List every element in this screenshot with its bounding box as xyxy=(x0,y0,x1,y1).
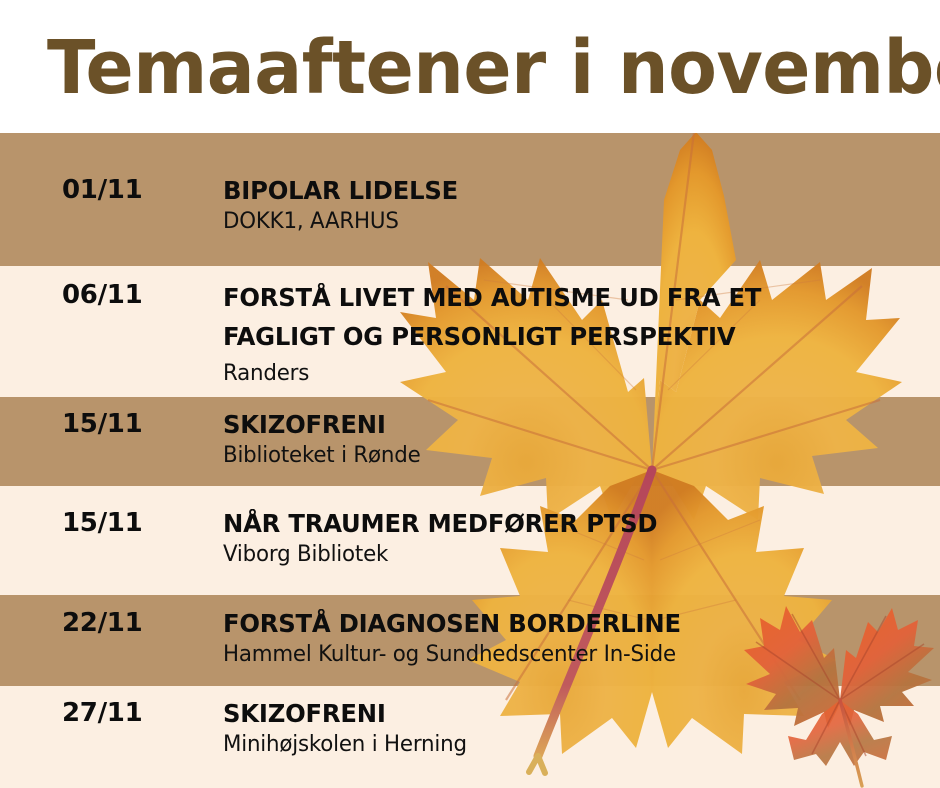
page-title: Temaaftener i november xyxy=(47,26,940,110)
event-venue-4: Viborg Bibliotek xyxy=(223,541,902,569)
event-date-5: 22/11 xyxy=(62,608,212,638)
event-title-5: FORSTÅ DIAGNOSEN BORDERLINE xyxy=(223,608,902,639)
event-date-6: 27/11 xyxy=(62,698,212,728)
event-venue-6: Minihøjskolen i Herning xyxy=(223,731,902,759)
event-date-1: 01/11 xyxy=(62,175,212,205)
event-title-2: FORSTÅ LIVET MED AUTISME UD FRA ET FAGLI… xyxy=(223,278,844,356)
event-title-4: NÅR TRAUMER MEDFØRER PTSD xyxy=(223,508,902,539)
event-title-3: SKIZOFRENI xyxy=(223,409,902,440)
event-body-1: BIPOLAR LIDELSE DOKK1, AARHUS xyxy=(223,175,923,236)
event-title-1: BIPOLAR LIDELSE xyxy=(223,175,902,206)
event-body-3: SKIZOFRENI Biblioteket i Rønde xyxy=(223,409,923,470)
event-body-6: SKIZOFRENI Minihøjskolen i Herning xyxy=(223,698,923,759)
event-venue-3: Biblioteket i Rønde xyxy=(223,442,902,470)
event-venue-2: Randers xyxy=(223,360,844,388)
event-title-6: SKIZOFRENI xyxy=(223,698,902,729)
event-body-5: FORSTÅ DIAGNOSEN BORDERLINE Hammel Kultu… xyxy=(223,608,923,669)
title-banner: Temaaftener i november xyxy=(0,0,940,133)
event-body-4: NÅR TRAUMER MEDFØRER PTSD Viborg Bibliot… xyxy=(223,508,923,569)
event-date-2: 06/11 xyxy=(62,280,212,310)
poster-canvas: Temaaftener i november 01/11 BIPOLAR LID… xyxy=(0,0,940,788)
event-venue-5: Hammel Kultur- og Sundhedscenter In-Side xyxy=(223,641,902,669)
event-date-3: 15/11 xyxy=(62,409,212,439)
event-body-2: FORSTÅ LIVET MED AUTISME UD FRA ET FAGLI… xyxy=(223,278,863,388)
event-date-4: 15/11 xyxy=(62,508,212,538)
event-venue-1: DOKK1, AARHUS xyxy=(223,208,902,236)
